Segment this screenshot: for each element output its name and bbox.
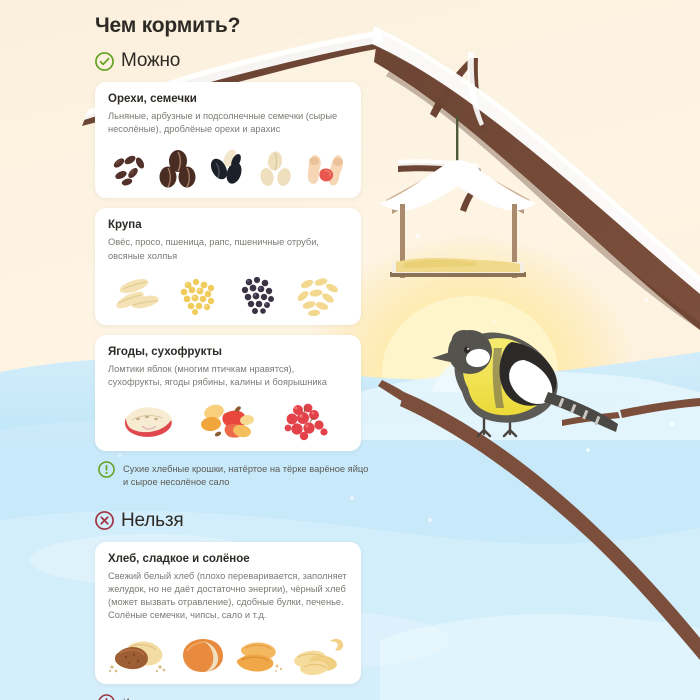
card-title: Орехи, семечки [108,93,348,105]
check-circle-icon [95,52,114,71]
section-label-forbidden: Нельзя [121,510,183,532]
exclamation-circle-red-icon [98,694,115,700]
card-title: Ягоды, сухофрукты [108,346,348,358]
watermelon-seeds-icon [255,149,299,189]
dried-fruit-icon [198,398,260,442]
bread-loaf-icon [108,635,170,675]
food-icon-row [108,272,348,316]
page-title: Чем кормить? [95,14,390,38]
nuts-icon [157,149,201,189]
oat-grains-icon [114,274,164,316]
wheat-grains-icon [294,274,342,316]
peanuts-icon [304,149,348,189]
section-label-allowed: Можно [121,50,180,72]
flax-seeds-icon [108,149,152,189]
chips-icon [290,635,348,675]
note-forbidden: Испорченное прогорклое зерно [98,694,373,700]
section-header-forbidden: Нельзя [95,510,390,532]
food-icon-row [108,398,348,442]
card-description: Овёс, просо, пшеница, рапс, пшеничные от… [108,236,348,262]
card-nuts-seeds[interactable]: Орехи, семечки Льняные, арбузные и подсо… [95,82,361,198]
food-icon-row [108,145,348,189]
bun-icon [173,635,229,675]
red-berries-icon [280,400,338,442]
card-description: Ломтики яблок (многим птичкам нравятся),… [108,363,348,389]
cookie-icon [231,635,287,675]
card-grains[interactable]: Крупа Овёс, просо, пшеница, рапс, пшенич… [95,208,361,324]
note-allowed: Сухие хлебные крошки, натёртое на тёрке … [98,461,373,489]
section-header-allowed: Можно [95,50,390,72]
cross-circle-icon [95,511,114,530]
card-bread-sweet-salty[interactable]: Хлеб, сладкое и солёное Свежий белый хле… [95,542,361,685]
card-title: Хлеб, сладкое и солёное [108,553,348,565]
exclamation-circle-green-icon [98,461,115,478]
card-title: Крупа [108,219,348,231]
rapeseed-icon [235,274,283,316]
content-column: Чем кормить? Можно Орехи, семечки Льняны… [0,0,390,700]
food-icon-row [108,631,348,675]
sunflower-seeds-icon [206,149,250,189]
card-description: Свежий белый хлеб (плохо переваривается,… [108,570,348,623]
millet-icon [175,274,223,316]
note-text: Сухие хлебные крошки, натёртое на тёрке … [123,461,373,489]
card-description: Льняные, арбузные и подсолнечные семечки… [108,110,348,136]
card-berries-dried-fruit[interactable]: Ягоды, сухофрукты Ломтики яблок (многим … [95,335,361,451]
apple-slice-icon [118,400,178,442]
note-text: Испорченное прогорклое зерно [123,694,259,700]
